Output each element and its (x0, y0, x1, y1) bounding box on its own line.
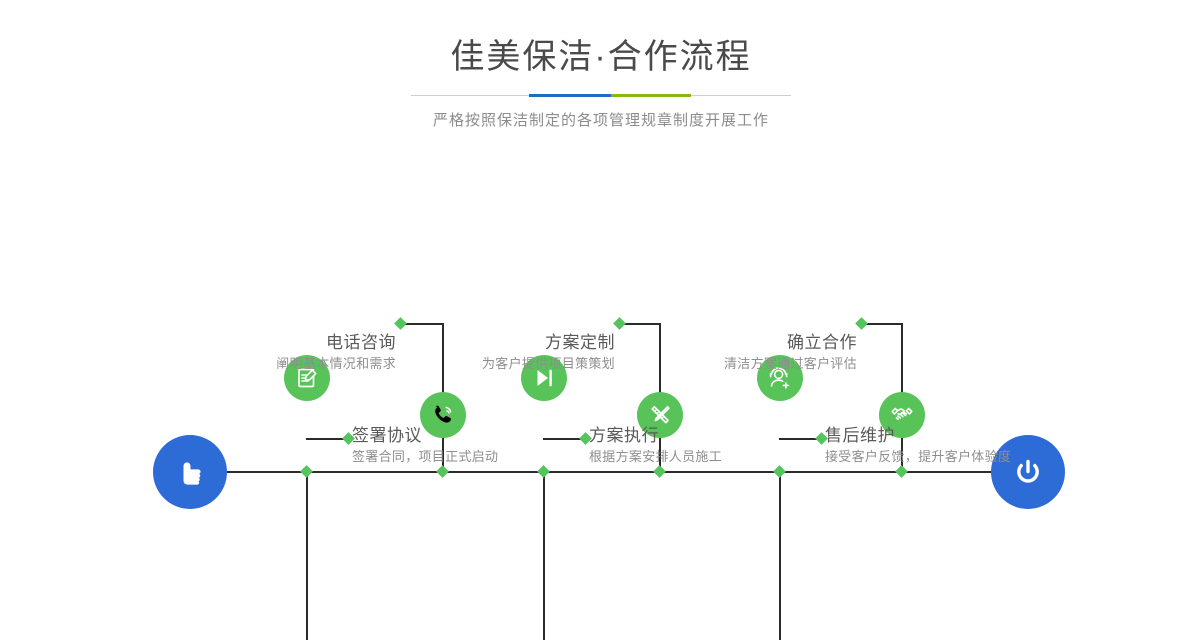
step-desc-step-3: 为客户提供项目策策划 (420, 354, 615, 374)
step-desc-step-5: 清洁方案通过客户评估 (680, 354, 857, 374)
label-marker-step-5 (855, 317, 868, 330)
connector-vertical-step-2 (306, 471, 308, 640)
step-label-step-3: 方案定制 为客户提供项目策策划 (420, 332, 615, 374)
timeline-marker-step-2 (300, 465, 313, 478)
step-title-step-5: 确立合作 (680, 332, 857, 354)
process-flow-diagram: 电话咨询 阐明基本情况和需求 签署协议 签署合同，项目正式启动 (0, 150, 1202, 502)
step-desc-step-1: 阐明基本情况和需求 (200, 354, 396, 374)
page-header: 佳美保洁·合作流程 严格按照保洁制定的各项管理规章制度开展工作 (0, 0, 1202, 130)
step-title-step-6: 售后维护 (825, 425, 1125, 447)
timeline-marker-step-5 (895, 465, 908, 478)
timeline-marker-step-3 (653, 465, 666, 478)
step-desc-step-6: 接受客户反馈，提升客户体验度 (825, 447, 1125, 467)
step-desc-step-4: 根据方案安排人员施工 (589, 447, 849, 467)
step-title-step-3: 方案定制 (420, 332, 615, 354)
step-label-step-4: 方案执行 根据方案安排人员施工 (589, 425, 849, 467)
step-title-step-1: 电话咨询 (200, 332, 396, 354)
connector-vertical-step-4 (543, 471, 545, 640)
timeline-marker-step-1 (436, 465, 449, 478)
label-marker-step-3 (613, 317, 626, 330)
timeline-marker-step-6 (773, 465, 786, 478)
step-label-step-6: 售后维护 接受客户反馈，提升客户体验度 (825, 425, 1125, 467)
step-title-step-2: 签署协议 (352, 425, 612, 447)
step-title-step-4: 方案执行 (589, 425, 849, 447)
divider-segment-green (611, 94, 691, 97)
step-desc-step-2: 签署合同，项目正式启动 (352, 447, 612, 467)
connector-vertical-step-6 (779, 471, 781, 640)
timeline-marker-step-4 (537, 465, 550, 478)
divider-segment-blue (529, 94, 611, 97)
page-subtitle: 严格按照保洁制定的各项管理规章制度开展工作 (0, 98, 1202, 130)
title-divider (411, 93, 791, 98)
step-label-step-1: 电话咨询 阐明基本情况和需求 (200, 332, 396, 374)
label-marker-step-1 (394, 317, 407, 330)
flow-start-node[interactable] (153, 435, 227, 509)
pointing-hand-icon (170, 452, 210, 492)
step-label-step-5: 确立合作 清洁方案通过客户评估 (680, 332, 857, 374)
page-title: 佳美保洁·合作流程 (0, 0, 1202, 77)
step-label-step-2: 签署协议 签署合同，项目正式启动 (352, 425, 612, 467)
